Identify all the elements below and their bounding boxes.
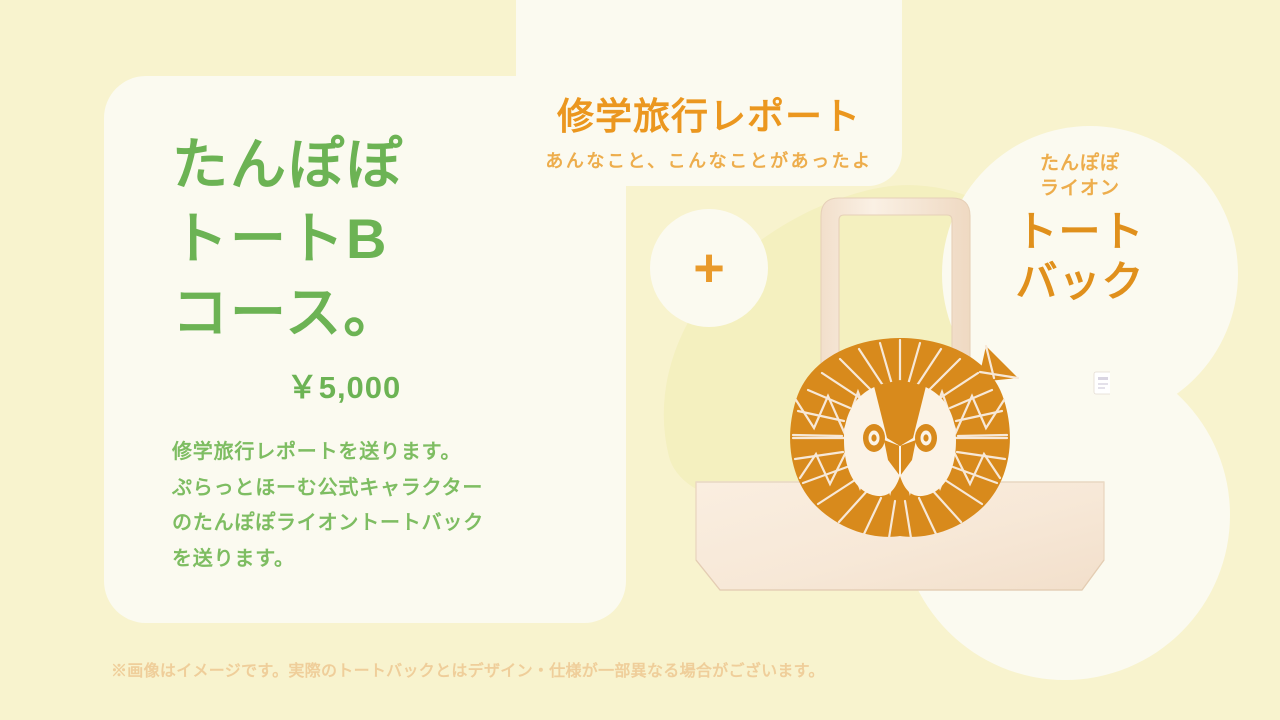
product-label-block: たんぽぽ ライオン トート バック	[975, 152, 1185, 306]
plus-icon: +	[650, 209, 768, 327]
brand-tag	[1094, 372, 1110, 394]
course-description: 修学旅行レポートを送ります。 ぷらっとほーむ公式キャラクター のたんぽぽライオン…	[172, 435, 572, 577]
report-badge-title: 修学旅行レポート	[516, 98, 902, 135]
course-price: ￥5,000	[172, 362, 516, 407]
slide-canvas: + たんぽぽ トートB コース。 ￥5,000 修学旅行レポートを送ります。 ぷ…	[0, 0, 1280, 720]
report-badge-subtitle: あんなこと、こんなことがあったよ	[516, 152, 902, 170]
product-label-small: たんぽぽ ライオン	[975, 152, 1185, 201]
product-label-big: トート バック	[975, 207, 1185, 306]
image-disclaimer: ※画像はイメージです。実際のトートバックとはデザイン・仕様が一部異なる場合がござ…	[111, 664, 825, 680]
